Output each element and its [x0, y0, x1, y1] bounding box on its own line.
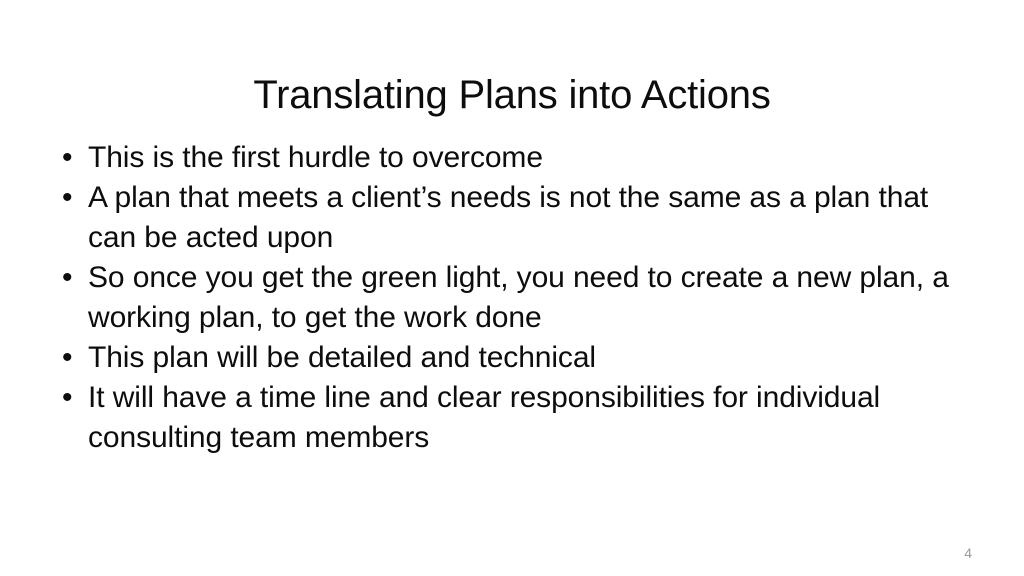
list-item: • This plan will be detailed and technic…	[56, 338, 976, 378]
list-item: • It will have a time line and clear res…	[56, 378, 976, 458]
bullet-point-icon: •	[62, 178, 80, 218]
bullet-point-icon: •	[62, 378, 80, 418]
page-title: Translating Plans into Actions	[62, 71, 962, 119]
list-item-text: A plan that meets a client’s needs is no…	[88, 178, 976, 258]
list-item-text: It will have a time line and clear respo…	[88, 378, 976, 458]
list-item-text: This is the first hurdle to overcome	[88, 138, 976, 178]
list-item: • This is the first hurdle to overcome	[56, 138, 976, 178]
bullet-point-icon: •	[62, 138, 80, 178]
list-item-text: This plan will be detailed and technical	[88, 338, 976, 378]
list-item-text: So once you get the green light, you nee…	[88, 258, 976, 338]
slide-number: 4	[964, 544, 972, 562]
list-item: • So once you get the green light, you n…	[56, 258, 976, 338]
list-item: • A plan that meets a client’s needs is …	[56, 178, 976, 258]
bullet-point-icon: •	[62, 338, 80, 378]
bullet-list: • This is the first hurdle to overcome •…	[56, 138, 976, 458]
bullet-point-icon: •	[62, 258, 80, 298]
presentation-slide: Translating Plans into Actions • This is…	[0, 0, 1024, 576]
